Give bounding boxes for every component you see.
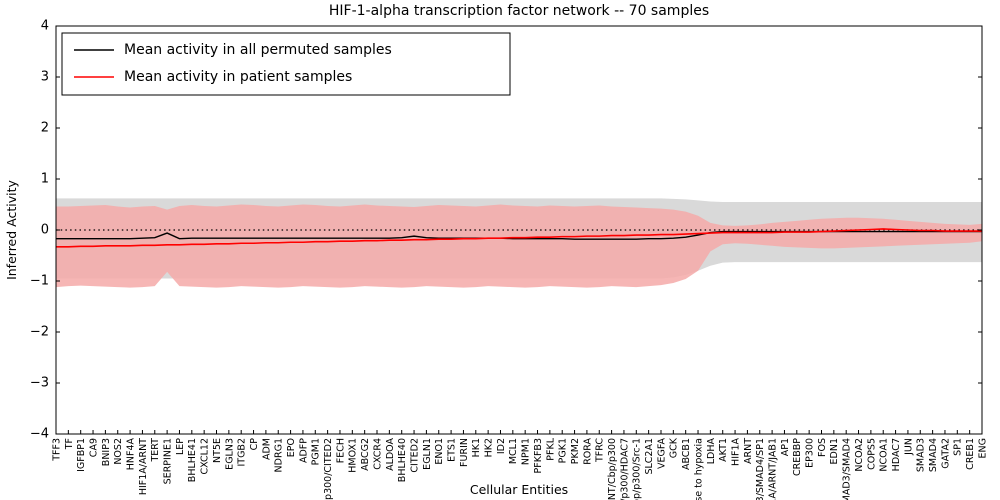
x-axis-title: Cellular Entities: [470, 482, 568, 497]
y-tick-label: 2: [41, 121, 49, 136]
y-tick-label: −3: [30, 376, 49, 391]
x-tick-label: NT5E: [212, 438, 223, 463]
x-tick-label: SMAD3: [916, 438, 927, 472]
legend-label-2: Mean activity in patient samples: [124, 69, 352, 85]
x-tick-label: SP1: [953, 438, 964, 456]
x-tick-label: NOS2: [113, 438, 124, 465]
x-tick-label: RORA: [582, 438, 593, 465]
chart-title: HIF-1-alpha transcription factor network…: [329, 3, 709, 19]
x-tick-label: JUN: [903, 438, 914, 456]
x-tick-label: SMAD3/SMAD4: [842, 438, 853, 500]
x-tick-label: HIF1A/ARNT/Cbp/p300: [607, 438, 618, 500]
x-tick-label: CP: [249, 438, 260, 451]
y-tick-label: −4: [30, 427, 49, 442]
y-tick-label: −1: [30, 274, 49, 289]
x-tick-label: ADFP: [298, 438, 309, 463]
x-tick-label: BNIP3: [101, 438, 112, 466]
x-tick-label: TFRC: [595, 438, 606, 463]
x-tick-label: EPO: [286, 438, 297, 457]
x-tick-label: GATA2: [940, 438, 951, 469]
x-tick-label: TFF3: [51, 438, 62, 462]
x-tick-label: ADM: [261, 438, 272, 460]
x-tick-label: ARNT: [743, 438, 754, 464]
x-tick-label: SMAD4: [928, 438, 939, 472]
x-tick-label: LEP: [175, 438, 186, 455]
x-tick-label: PGK1: [558, 438, 569, 463]
x-tick-label: ALDOA: [385, 438, 396, 471]
x-tick-label: CREB1: [965, 438, 976, 470]
x-tick-label: HK1: [471, 438, 482, 457]
x-tick-label: HDAC7: [891, 438, 902, 471]
x-tick-label: IGFBP1: [76, 438, 87, 472]
x-tick-label: ENO1: [434, 438, 445, 465]
x-tick-label: AKT1: [718, 438, 729, 462]
x-tick-label: PFKFB3: [533, 438, 544, 473]
x-tick-label: CXCR4: [372, 438, 383, 470]
x-tick-label: NCOA1: [879, 438, 890, 472]
x-tick-label: HIF1A: [730, 437, 741, 465]
y-axis-title: Inferred Activity: [4, 179, 19, 279]
x-tick-label: PGM1: [311, 438, 322, 465]
x-tick-label: CA9: [88, 438, 99, 457]
x-tick-label: Cbp/p300/CITED2: [323, 438, 334, 500]
y-tick-label: 3: [41, 70, 49, 85]
x-tick-label: PFKL: [545, 437, 556, 460]
x-tick-label: ETS1: [446, 438, 457, 462]
x-tick-label: HIF1A/ARNT/Cbp/p300/Src-1: [632, 438, 643, 500]
x-tick-label: SLC2A1: [644, 438, 655, 475]
x-tick-label: ABCG2: [360, 438, 371, 471]
x-tick-label: HIF1A/ARNT/Cbp/p300/HDAC7: [619, 438, 630, 500]
x-tick-label: VEGFA: [656, 438, 667, 469]
x-tick-label: TF: [64, 438, 75, 450]
x-tick-label: CXCL12: [200, 438, 211, 474]
y-tick-label: 4: [41, 19, 49, 34]
x-tick-label: HMOX1: [348, 438, 359, 473]
x-tick-label: response to hypoxia: [693, 438, 704, 500]
x-tick-label: EP300: [805, 438, 816, 468]
y-tick-label: 1: [41, 172, 49, 187]
x-tick-label: ITGB2: [237, 438, 248, 467]
x-tick-label: NPM1: [521, 438, 532, 465]
x-tick-label: CITED2: [409, 438, 420, 473]
x-tick-label: HIF1A/ARNT: [138, 438, 149, 495]
chart-container: −4−3−2−101234TFF3TFIGFBP1CA9BNIP3NOS2HNF…: [0, 0, 1000, 500]
x-tick-label: ID2: [496, 438, 507, 454]
x-tick-label: COPS5: [866, 438, 877, 470]
x-tick-label: GCK: [669, 437, 680, 458]
x-tick-label: NCOA2: [854, 438, 865, 472]
x-tick-label: HIF1A/ARNT/JAB1: [768, 438, 779, 500]
x-tick-label: TERT: [150, 438, 161, 463]
x-tick-label: HNF4A: [125, 438, 136, 471]
x-tick-label: SERPINE1: [163, 438, 174, 484]
x-tick-label: NDRG1: [274, 438, 285, 472]
x-tick-label: EGLN3: [224, 438, 235, 470]
x-tick-label: LDHA: [706, 438, 717, 465]
x-tick-label: EGLN1: [422, 438, 433, 470]
x-tick-label: ENG: [977, 438, 988, 458]
hif1a-network-activity-chart: −4−3−2−101234TFF3TFIGFBP1CA9BNIP3NOS2HNF…: [0, 0, 1000, 500]
legend-label-1: Mean activity in all permuted samples: [124, 42, 392, 58]
x-tick-label: BHLHE40: [397, 438, 408, 482]
x-tick-label: FURIN: [459, 438, 470, 467]
x-tick-label: ABCB1: [681, 438, 692, 470]
x-tick-label: MCL1: [508, 438, 519, 464]
x-tick-label: BHLHE41: [187, 438, 198, 482]
y-tick-label: 0: [41, 223, 49, 238]
x-tick-label: EDN1: [829, 438, 840, 464]
x-tick-label: FECH: [335, 438, 346, 463]
x-tick-label: FOS: [817, 438, 828, 457]
x-tick-label: HIF1A/ARNT/SMAD3/SMAD4/SP1: [755, 438, 766, 500]
x-tick-label: HK2: [484, 438, 495, 457]
x-tick-label: AP1: [780, 438, 791, 456]
x-tick-label: CREBBP: [792, 438, 803, 476]
x-tick-label: PKM2: [570, 438, 581, 464]
y-tick-label: −2: [30, 325, 49, 340]
